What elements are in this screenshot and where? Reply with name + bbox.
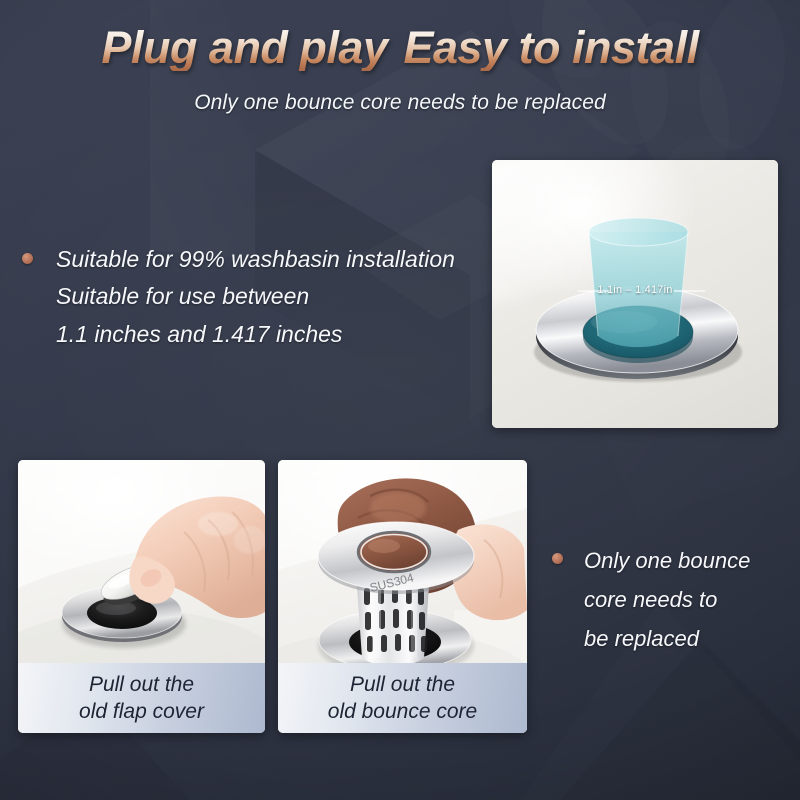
right-bullet-line-2: core needs to [584, 580, 798, 619]
step-2-panel: SUS304 Pull out the old bounce core [278, 460, 527, 733]
step-2-caption-line-2: old bounce core [328, 699, 477, 725]
left-bullet-line-1: Suitable for 99% washbasin installation [56, 241, 488, 278]
bullet-dot-icon [22, 253, 33, 264]
bullet-dot-icon [552, 553, 563, 564]
right-bullet-lines: Only one bounce core needs to be replace… [584, 541, 798, 658]
left-bullet-line-3: 1.1 inches and 1.417 inches [56, 316, 488, 353]
headline-part-1: Plug and play [101, 22, 387, 73]
page-subheadline: Only one bounce core needs to be replace… [0, 91, 800, 115]
left-bullet-lines: Suitable for 99% washbasin installation … [56, 241, 488, 353]
step-1-caption-line-1: Pull out the [89, 672, 194, 698]
step-2-caption-line-1: Pull out the [350, 672, 455, 698]
right-bullet-block: Only one bounce core needs to be replace… [548, 541, 798, 658]
left-bullet-line-2: Suitable for use between [56, 278, 488, 315]
step-1-photo: Pull out the old flap cover [18, 460, 265, 733]
step-1-panel: Pull out the old flap cover [18, 460, 265, 733]
step-1-caption: Pull out the old flap cover [18, 663, 265, 733]
step-2-caption: Pull out the old bounce core [278, 663, 527, 733]
hero-product-photo-panel: 1.1in – 1.417in [492, 160, 778, 428]
step-1-caption-line-2: old flap cover [79, 699, 204, 725]
right-bullet-line-3: be replaced [584, 619, 798, 658]
right-bullet-line-1: Only one bounce [584, 541, 798, 580]
headline-part-2: Easy to install [403, 22, 698, 73]
hero-photo: 1.1in – 1.417in [492, 160, 778, 428]
page-headline: Plug and playEasy to install [0, 24, 800, 71]
left-bullet-block: Suitable for 99% washbasin installation … [18, 241, 488, 353]
step-2-photo: SUS304 Pull out the old bounce core [278, 460, 527, 733]
measurement-label: 1.1in – 1.417in [492, 284, 778, 296]
